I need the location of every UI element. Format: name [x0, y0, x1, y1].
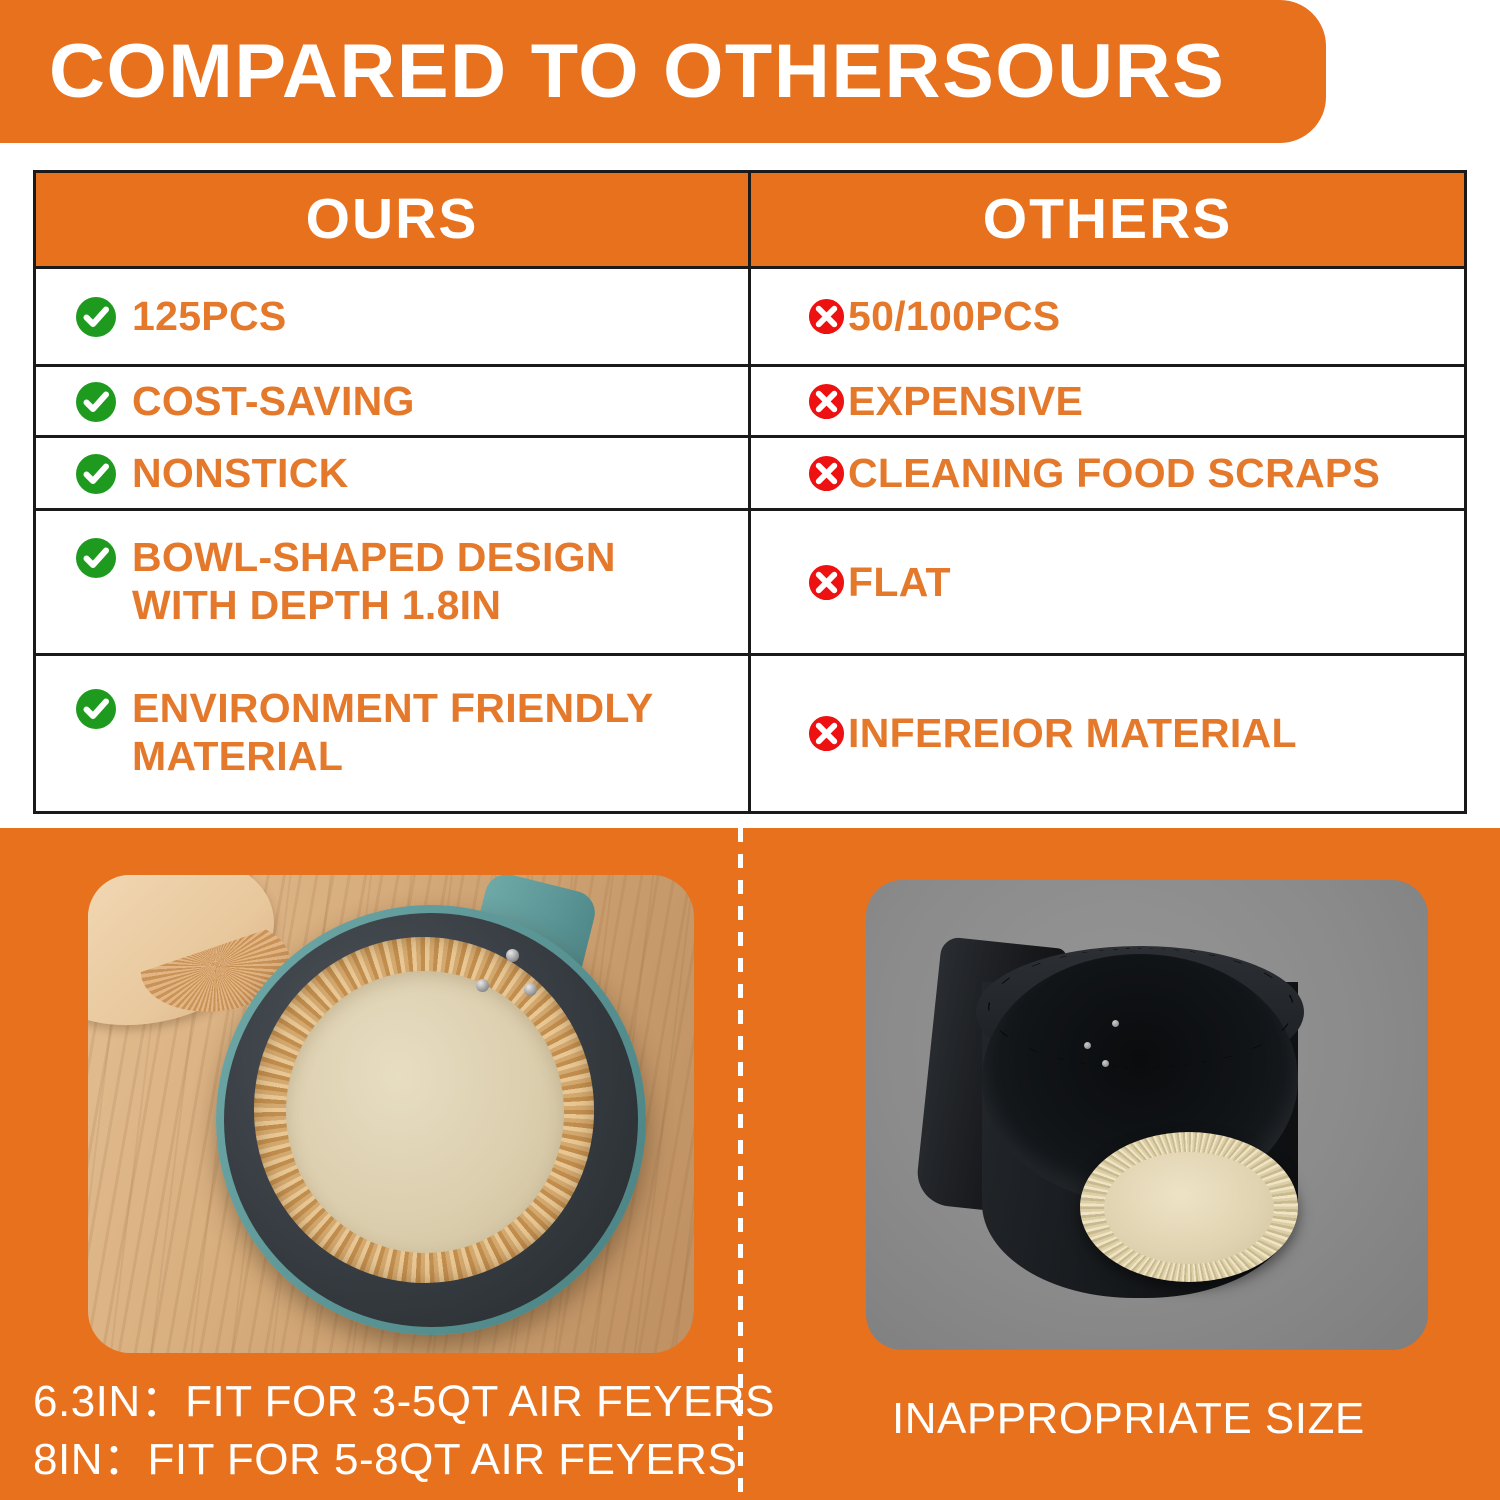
product-photo-ours	[88, 875, 694, 1353]
check-circle-icon	[74, 452, 118, 496]
teal-air-fryer-basket	[216, 891, 646, 1343]
basket-rivets	[1078, 1020, 1138, 1076]
table-cell-ours: 125PCS	[36, 269, 751, 364]
feature-label-others: INFEREIOR MATERIAL	[848, 709, 1297, 757]
comparison-table: OURS OTHERS 125PCS 50/100PCS	[33, 170, 1467, 814]
x-circle-icon	[807, 563, 846, 602]
feature-label-ours: COST-SAVING	[132, 377, 415, 425]
basket-screws	[462, 949, 572, 1009]
feature-label-ours: 125PCS	[132, 292, 287, 340]
feature-item-ours: NONSTICK	[74, 449, 349, 497]
check-circle-icon	[74, 295, 118, 339]
table-cell-others: 50/100PCS	[751, 269, 1464, 364]
feature-label-ours: ENVIRONMENT FRIENDLY MATERIAL	[132, 684, 654, 781]
table-header-ours: OURS	[36, 173, 751, 266]
feature-item-ours: 125PCS	[74, 292, 287, 340]
black-air-fryer-basket	[928, 924, 1348, 1316]
feature-item-ours: COST-SAVING	[74, 377, 415, 425]
feature-item-others: FLAT	[807, 558, 951, 606]
table-header-others: OTHERS	[751, 173, 1464, 266]
table-cell-ours: COST-SAVING	[36, 367, 751, 435]
table-row: 125PCS 50/100PCS	[36, 269, 1464, 367]
feature-item-ours: BOWL-SHAPED DESIGN WITH DEPTH 1.8IN	[74, 533, 616, 630]
table-cell-others: INFEREIOR MATERIAL	[751, 656, 1464, 811]
feature-label-others: CLEANING FOOD SCRAPS	[848, 449, 1380, 497]
table-row: ENVIRONMENT FRIENDLY MATERIAL INFEREIOR …	[36, 656, 1464, 811]
header-banner: COMPARED TO OTHERSOURS	[0, 0, 1326, 143]
table-cell-ours: ENVIRONMENT FRIENDLY MATERIAL	[36, 656, 751, 811]
check-circle-icon	[74, 687, 118, 731]
caption-ours: 6.3IN：FIT FOR 3-5QT AIR FEYERS 8IN：FIT F…	[33, 1373, 775, 1489]
feature-label-others: EXPENSIVE	[848, 377, 1083, 425]
table-row: BOWL-SHAPED DESIGN WITH DEPTH 1.8IN FLAT	[36, 511, 1464, 656]
feature-item-ours: ENVIRONMENT FRIENDLY MATERIAL	[74, 684, 654, 781]
feature-item-others: EXPENSIVE	[807, 377, 1083, 425]
x-circle-icon	[807, 297, 846, 336]
caption-others: INAPPROPRIATE SIZE	[892, 1390, 1365, 1448]
page-title: COMPARED TO OTHERSOURS	[0, 34, 1225, 110]
table-row: NONSTICK CLEANING FOOD SCRAPS	[36, 438, 1464, 511]
table-row: COST-SAVING EXPENSIVE	[36, 367, 1464, 438]
table-cell-others: CLEANING FOOD SCRAPS	[751, 438, 1464, 508]
paper-liner-base	[1104, 1152, 1274, 1264]
feature-item-others: CLEANING FOOD SCRAPS	[807, 449, 1380, 497]
table-cell-others: FLAT	[751, 511, 1464, 653]
feature-label-ours: BOWL-SHAPED DESIGN WITH DEPTH 1.8IN	[132, 533, 616, 630]
feature-item-others: INFEREIOR MATERIAL	[807, 709, 1297, 757]
x-circle-icon	[807, 382, 846, 421]
check-circle-icon	[74, 536, 118, 580]
feature-item-others: 50/100PCS	[807, 292, 1060, 340]
x-circle-icon	[807, 714, 846, 753]
table-header-row: OURS OTHERS	[36, 173, 1464, 269]
table-header-others-label: OTHERS	[983, 191, 1233, 248]
x-circle-icon	[807, 454, 846, 493]
product-photo-others	[866, 880, 1428, 1350]
table-header-ours-label: OURS	[306, 191, 479, 248]
feature-label-ours: NONSTICK	[132, 449, 349, 497]
table-cell-ours: NONSTICK	[36, 438, 751, 508]
table-cell-others: EXPENSIVE	[751, 367, 1464, 435]
undersized-paper-liner	[1080, 1132, 1298, 1282]
feature-label-others: 50/100PCS	[848, 292, 1060, 340]
check-circle-icon	[74, 380, 118, 424]
basket-vents	[988, 948, 1294, 1068]
table-cell-ours: BOWL-SHAPED DESIGN WITH DEPTH 1.8IN	[36, 511, 751, 653]
feature-label-others: FLAT	[848, 558, 951, 606]
